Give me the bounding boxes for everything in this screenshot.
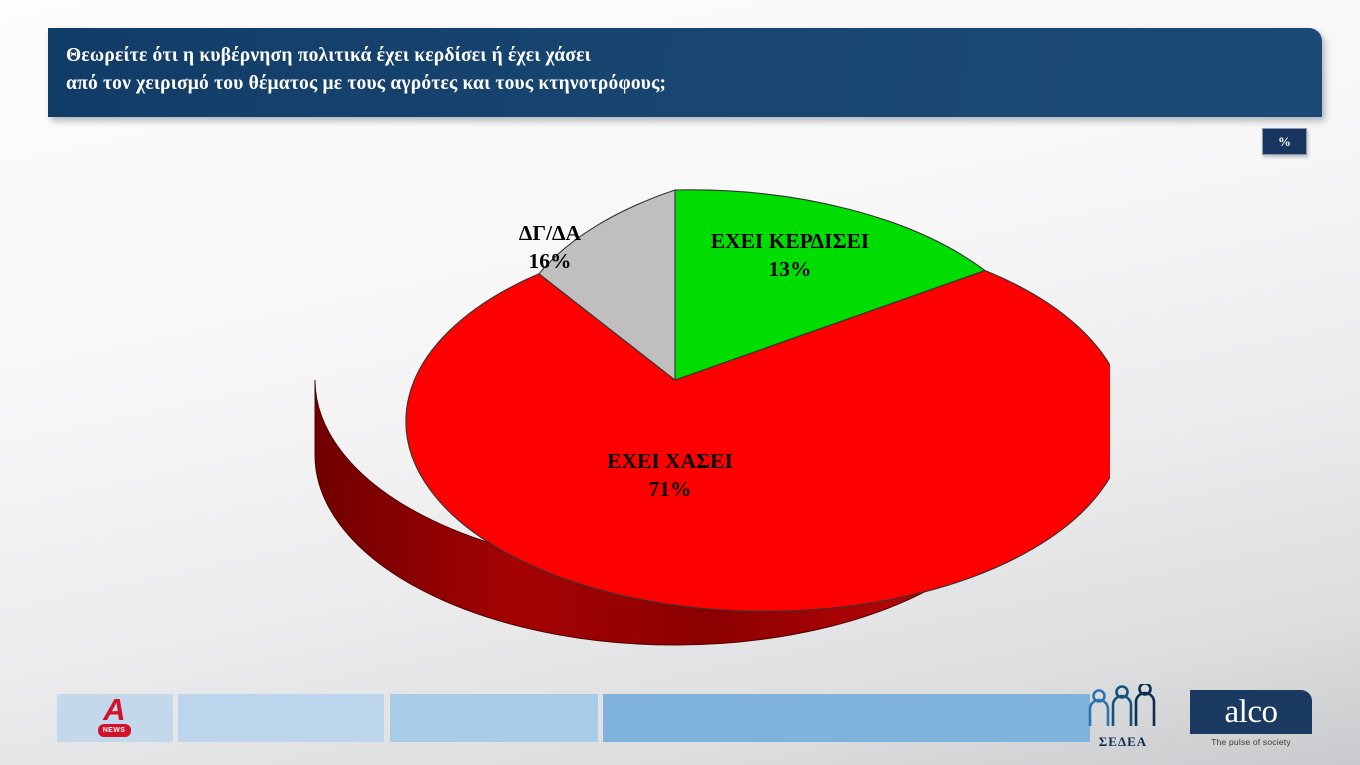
footer-block-4 <box>603 694 1090 742</box>
alco-logo: alco The pulse of society <box>1190 690 1312 752</box>
sedea-logo: ΣΕΔΕΑ <box>1082 684 1164 746</box>
alco-box: alco <box>1190 690 1312 734</box>
page-title: Θεωρείτε ότι η κυβέρνηση πολιτικά έχει κ… <box>66 42 1322 98</box>
alpha-news-letter: A <box>92 697 136 723</box>
pie-label-exei-kerdisei-value: 13% <box>769 257 812 281</box>
alco-name: alco <box>1225 696 1278 729</box>
pie-label-dg-da-name: ΔΓ/ΔΑ <box>519 221 582 245</box>
percent-unit-label: % <box>1278 134 1291 150</box>
header-bar: Θεωρείτε ότι η κυβέρνηση πολιτικά έχει κ… <box>48 28 1322 117</box>
pie-label-exei-xasei-name: ΕΧΕΙ ΧΑΣΕΙ <box>607 449 733 473</box>
pie-label-exei-kerdisei-name: ΕΧΕΙ ΚΕΡΔΙΣΕΙ <box>711 229 870 253</box>
pie-label-dg-da-value: 16% <box>529 249 572 273</box>
pie-chart-svg: ΕΧΕΙ ΚΕΡΔΙΣΕΙ 13% ΕΧΕΙ ΧΑΣΕΙ 71% ΔΓ/ΔΑ 1… <box>250 160 1110 660</box>
footer-block-3 <box>390 694 598 742</box>
percent-unit-badge: % <box>1262 128 1307 155</box>
alpha-news-logo: A NEWS <box>92 697 136 739</box>
sedea-people-icon <box>1082 684 1164 728</box>
pie-chart: ΕΧΕΙ ΚΕΡΔΙΣΕΙ 13% ΕΧΕΙ ΧΑΣΕΙ 71% ΔΓ/ΔΑ 1… <box>250 160 1110 660</box>
footer-block-2 <box>178 694 384 742</box>
alco-tagline: The pulse of society <box>1190 737 1312 747</box>
pie-label-exei-xasei-value: 71% <box>649 477 692 501</box>
pie-slices <box>406 190 1110 611</box>
sedea-name: ΣΕΔΕΑ <box>1082 734 1164 750</box>
